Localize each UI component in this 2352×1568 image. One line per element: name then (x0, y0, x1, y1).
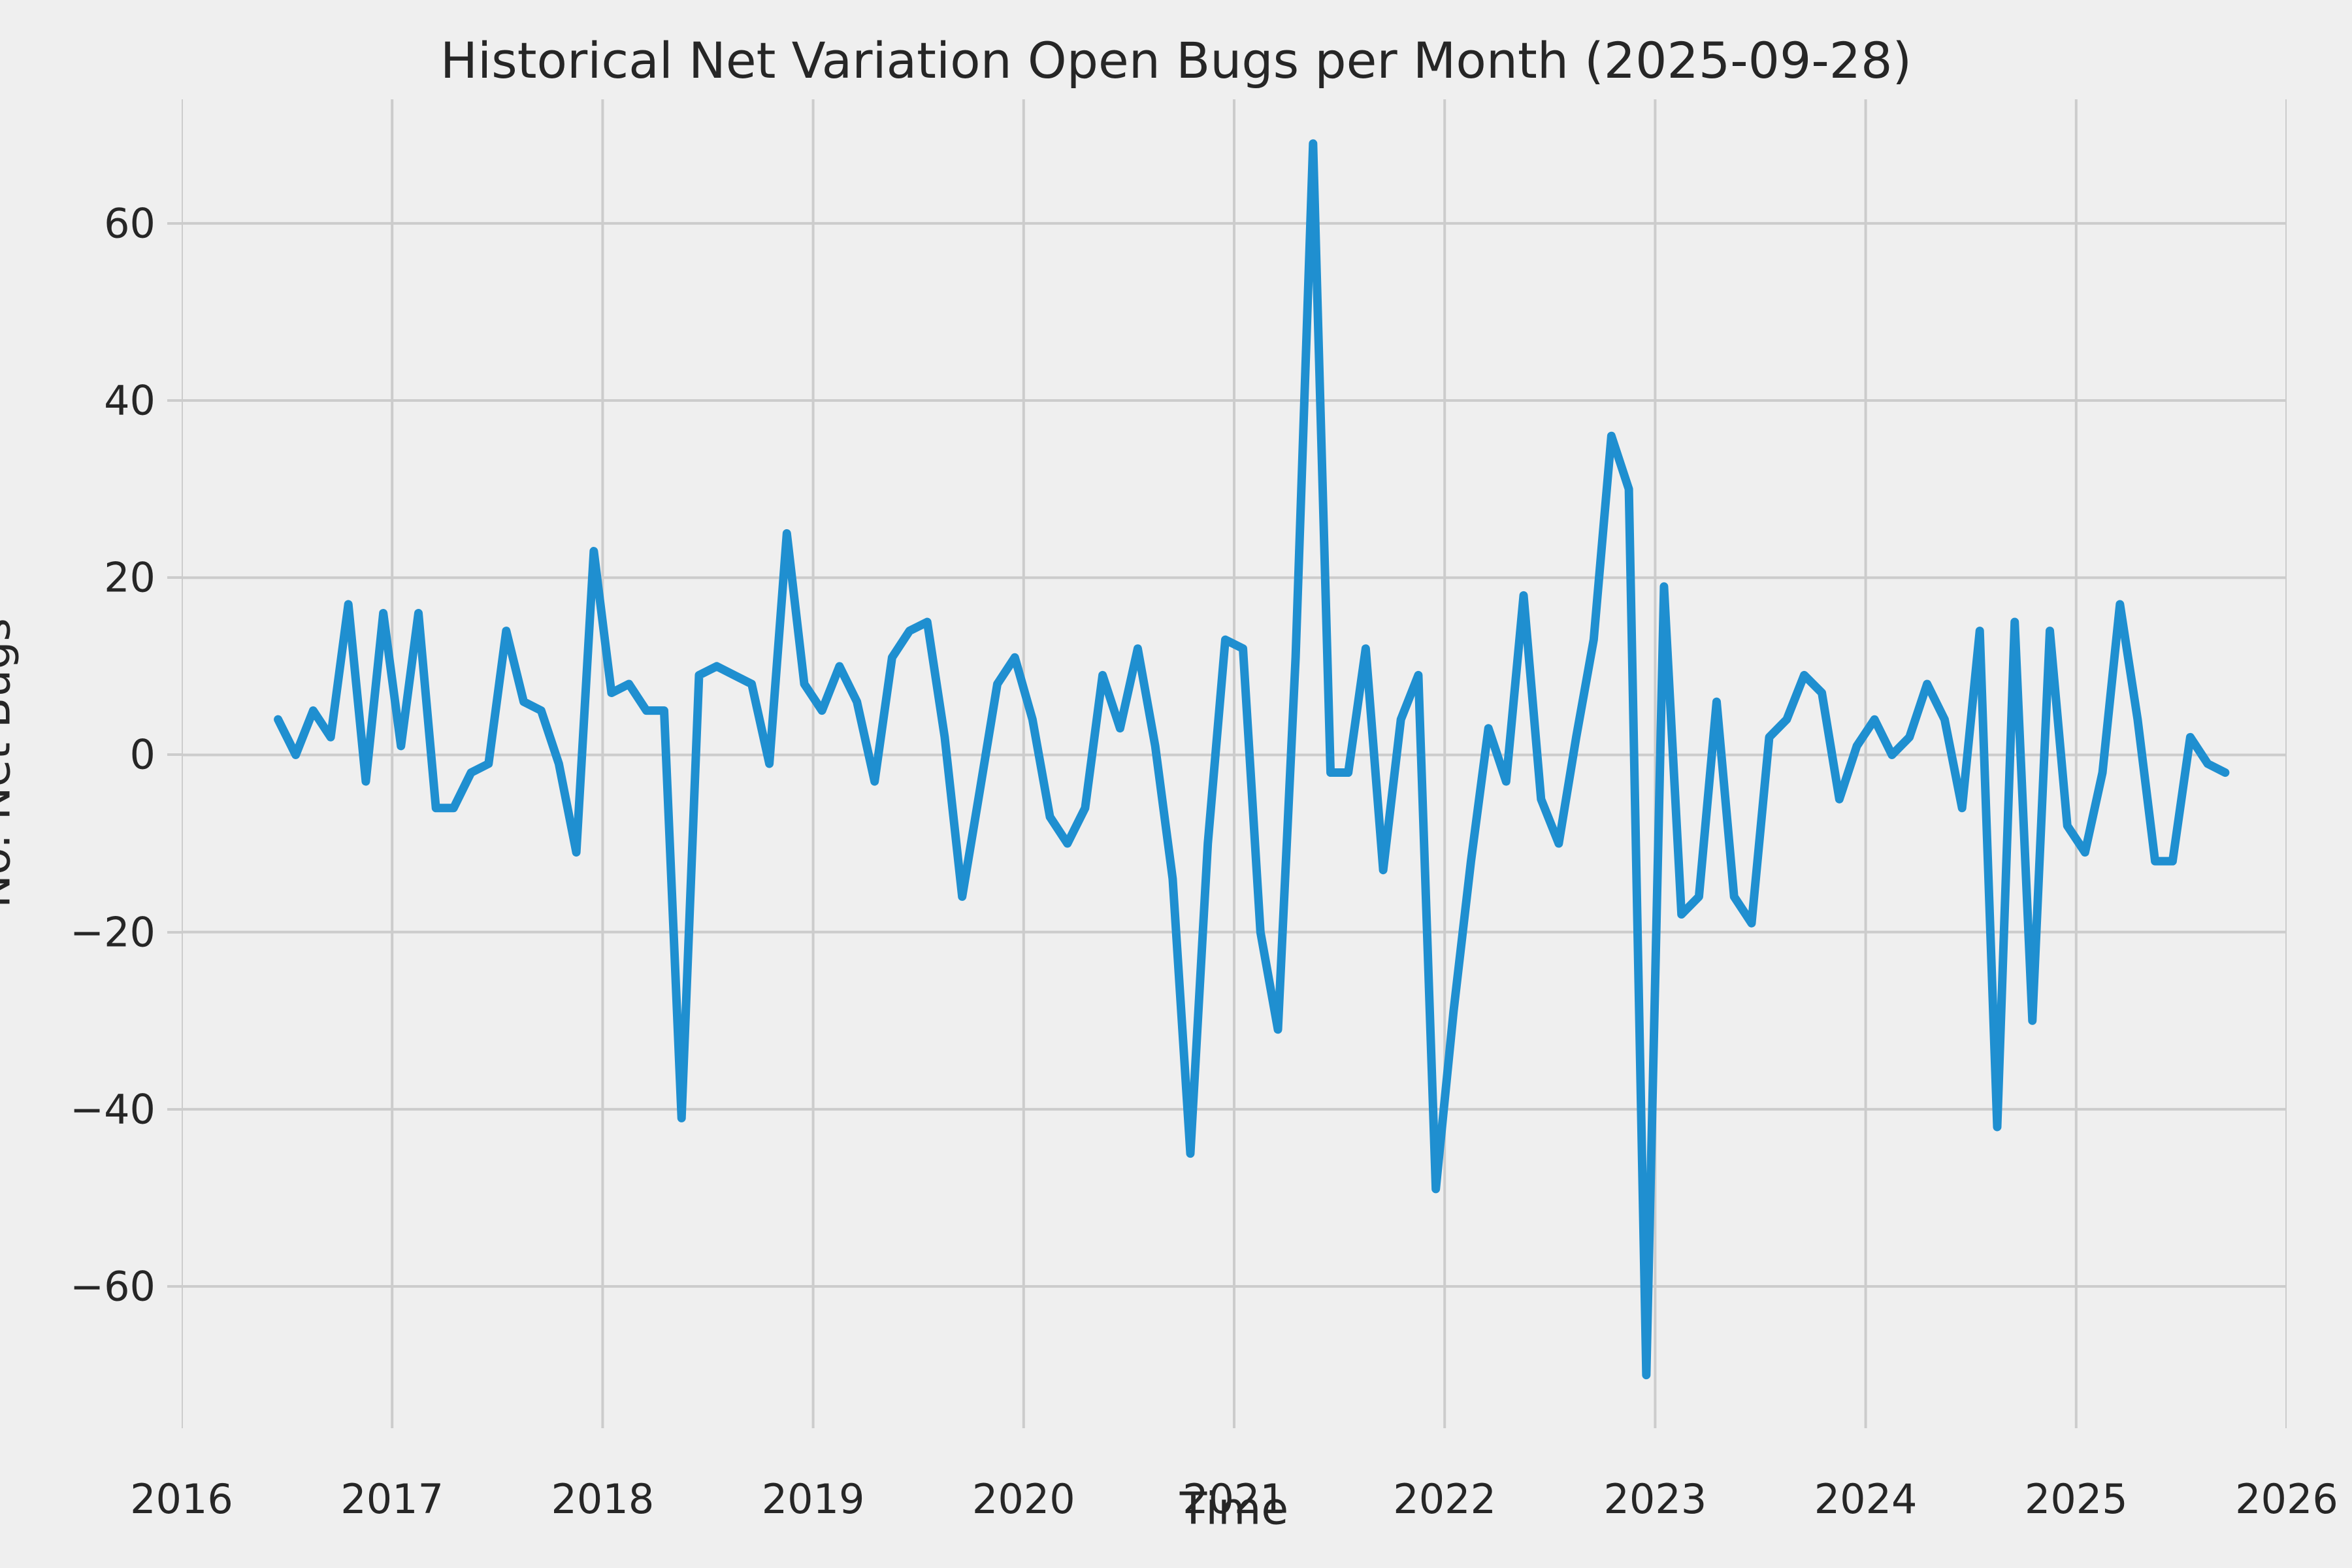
x-tick-label: 2021 (1136, 1475, 1332, 1523)
x-tick-label: 2018 (504, 1475, 700, 1523)
figure-canvas: Historical Net Variation Open Bugs per M… (0, 0, 2352, 1568)
y-tick-mark (167, 222, 182, 225)
x-tick-label: 2020 (926, 1475, 1122, 1523)
x-tick-label: 2024 (1768, 1475, 1964, 1523)
y-tick-mark (167, 399, 182, 402)
y-tick-label: −40 (12, 1085, 155, 1133)
x-tick-label: 2026 (2189, 1475, 2352, 1523)
y-tick-label: −60 (12, 1263, 155, 1311)
y-tick-mark (167, 753, 182, 756)
y-tick-label: 40 (12, 377, 155, 425)
x-tick-label: 2019 (715, 1475, 911, 1523)
y-tick-mark (167, 1285, 182, 1288)
chart-title: Historical Net Variation Open Bugs per M… (0, 31, 2352, 90)
y-tick-mark (167, 1108, 182, 1111)
x-tick-label: 2023 (1557, 1475, 1753, 1523)
y-tick-label: 60 (12, 199, 155, 247)
y-tick-label: −20 (12, 908, 155, 956)
x-tick-label: 2016 (84, 1475, 280, 1523)
series-line (278, 144, 2225, 1375)
x-tick-label: 2017 (294, 1475, 490, 1523)
x-tick-label: 2022 (1347, 1475, 1543, 1523)
y-tick-mark (167, 576, 182, 579)
plot-area (182, 99, 2287, 1428)
y-tick-label: 20 (12, 554, 155, 602)
y-tick-mark (167, 931, 182, 934)
y-tick-label: 0 (12, 731, 155, 779)
data-line-series (182, 99, 2287, 1428)
x-tick-label: 2025 (1978, 1475, 2174, 1523)
